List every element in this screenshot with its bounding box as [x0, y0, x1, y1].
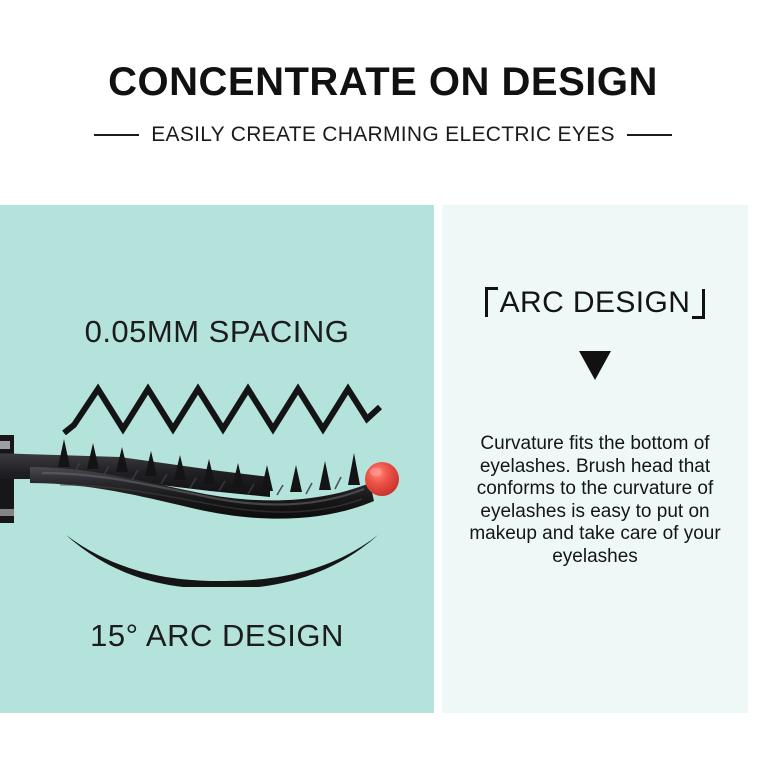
page-subtitle: EASILY CREATE CHARMING ELECTRIC EYES — [151, 122, 615, 148]
arc-design-heading-text: ARC DESIGN — [500, 287, 691, 319]
page-title: CONCENTRATE ON DESIGN — [0, 58, 766, 106]
subtitle-row: EASILY CREATE CHARMING ELECTRIC EYES — [0, 122, 766, 148]
triangle-down-icon — [442, 351, 748, 380]
corner-bracket-right-icon — [692, 289, 705, 319]
subtitle-rule-left-icon — [94, 134, 139, 136]
arc-design-heading: ARC DESIGN — [442, 287, 748, 319]
feature-description: Curvature fits the bottom of eyelashes. … — [454, 433, 736, 569]
corner-bracket-left-icon — [485, 287, 498, 317]
arc-angle-label: 15° ARC DESIGN — [0, 617, 434, 655]
left-feature-panel: 0.05MM SPACING — [0, 205, 434, 713]
right-feature-panel: ARC DESIGN Curvature fits the bottom of … — [442, 205, 748, 713]
arc-curve-icon — [62, 527, 382, 587]
red-tip-icon — [365, 462, 399, 496]
header: CONCENTRATE ON DESIGN EASILY CREATE CHAR… — [0, 0, 766, 205]
product-brush-image — [0, 423, 434, 543]
spacing-label: 0.05MM SPACING — [0, 313, 434, 351]
subtitle-rule-right-icon — [627, 134, 672, 136]
